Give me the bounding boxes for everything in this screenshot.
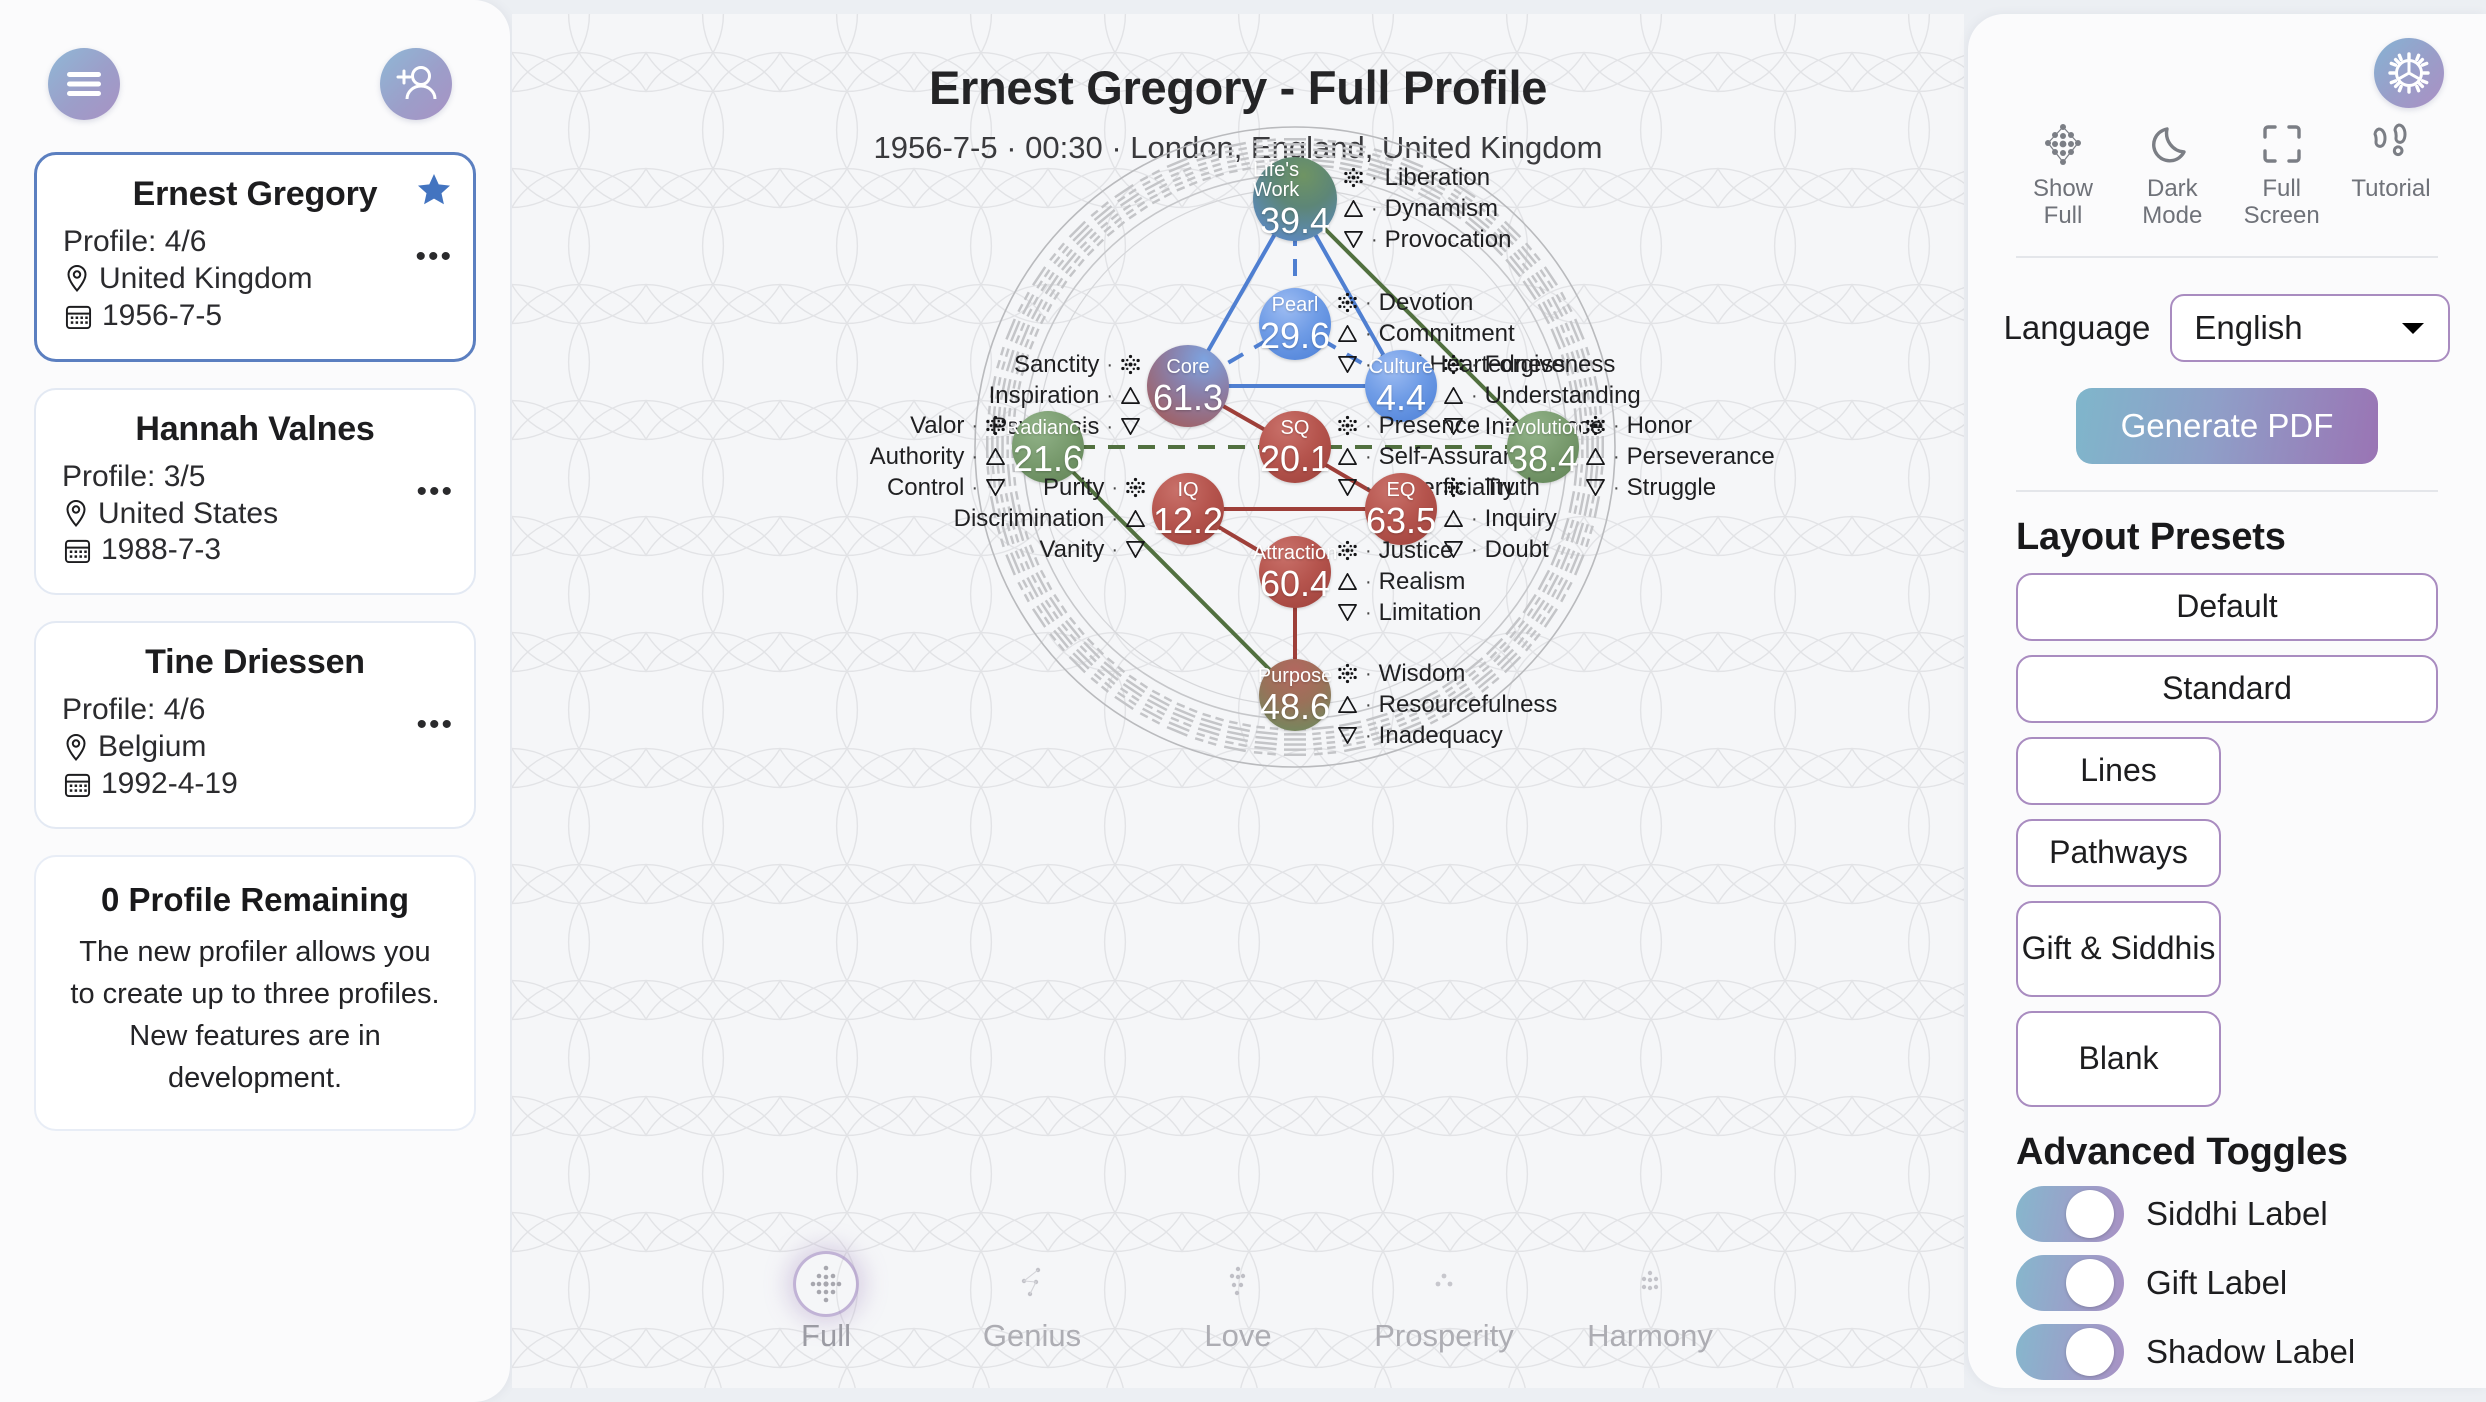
keyword: Commitment <box>1379 318 1515 349</box>
profile-card[interactable]: •••Tine DriessenProfile: 4/6Belgium1992-… <box>34 621 476 829</box>
profile-name: Hannah Valnes <box>62 410 448 449</box>
star-icon[interactable] <box>417 173 451 206</box>
dark-mode-button[interactable]: Dark Mode <box>2125 118 2219 230</box>
location-pin-icon <box>64 733 88 763</box>
gift-symbol-icon <box>1337 694 1358 715</box>
gift-symbol-icon <box>1443 385 1464 406</box>
keyword: Devotion <box>1379 287 1474 318</box>
gift-symbol-icon <box>1585 446 1606 467</box>
siddhi-symbol-icon <box>985 415 1006 436</box>
tab-label: Love <box>1204 1318 1271 1354</box>
keyword: Struggle <box>1627 472 1716 503</box>
toggle-row: Shadow Label <box>2016 1324 2486 1380</box>
node-keywords-attraction: ·Justice·Realism·Limitation <box>1337 535 1481 629</box>
card-options-button[interactable]: ••• <box>416 719 454 731</box>
profiles-remaining-body: The new profiler allows you to create up… <box>64 931 446 1099</box>
keyword: Realism <box>1379 566 1466 597</box>
siddhi-symbol-icon <box>1443 477 1464 498</box>
node-label: EQ <box>1387 480 1416 500</box>
node-label: Core <box>1166 357 1209 377</box>
calendar-icon <box>65 303 92 330</box>
chevron-down-icon <box>2400 319 2426 337</box>
node-label: SQ <box>1281 418 1310 438</box>
keyword: Inadequacy <box>1379 720 1503 751</box>
keyword: Wisdom <box>1379 658 1466 689</box>
node-label: Life's Work <box>1253 160 1337 200</box>
shadow-symbol-icon <box>1337 725 1358 746</box>
tab-icon-prosperity <box>1424 1254 1464 1314</box>
shadow-symbol-icon <box>1337 477 1358 498</box>
gift-symbol-icon <box>1337 323 1358 344</box>
expand-icon <box>2259 118 2305 170</box>
tutorial-button[interactable]: Tutorial <box>2344 118 2438 230</box>
keyword: Honor <box>1627 410 1692 441</box>
profile-location: United States <box>62 496 448 533</box>
node-value: 12.2 <box>1153 503 1223 539</box>
keyword: Truth <box>1485 472 1540 503</box>
gift-symbol-icon <box>1120 385 1141 406</box>
profile-line: Profile: 4/6 <box>62 692 448 729</box>
keyword: Purity <box>1043 472 1104 503</box>
keyword: Justice <box>1379 535 1454 566</box>
tab-label: Full <box>801 1318 851 1354</box>
toggle-label: Siddhi Label <box>2146 1195 2328 1233</box>
profile-date: 1956-7-5 <box>63 298 447 335</box>
keyword: Perseverance <box>1627 441 1775 472</box>
node-label: IQ <box>1177 480 1198 500</box>
siddhi-symbol-icon <box>1337 415 1358 436</box>
sidebar: •••Ernest GregoryProfile: 4/6United King… <box>0 0 510 1402</box>
keyword: Resourcefulness <box>1379 689 1558 720</box>
chart-node-sq[interactable]: SQ20.1 <box>1259 411 1331 483</box>
keyword: Liberation <box>1385 162 1490 193</box>
toggle-knob <box>2066 1190 2114 1238</box>
node-value: 39.4 <box>1260 203 1330 239</box>
siddhi-symbol-icon <box>1337 540 1358 561</box>
tab-full[interactable]: Full <box>723 1254 929 1354</box>
toggle-label: Gift Label <box>2146 1264 2287 1302</box>
language-select[interactable]: English <box>2170 294 2450 362</box>
chart-canvas: Ernest Gregory - Full Profile 1956-7-5 ·… <box>512 14 1964 1388</box>
shadow-symbol-icon <box>1343 229 1364 250</box>
hamburger-menu-icon[interactable] <box>48 48 120 120</box>
profile-card[interactable]: •••Hannah ValnesProfile: 3/5United State… <box>34 388 476 596</box>
keyword: Discrimination <box>954 503 1105 534</box>
profiles-remaining-title: 0 Profile Remaining <box>64 881 446 919</box>
node-value: 61.3 <box>1153 380 1223 416</box>
tab-icon-love <box>1218 1254 1258 1314</box>
layout-presets-heading: Layout Presets <box>1968 492 2486 559</box>
profile-date: 1992-4-19 <box>62 766 448 803</box>
gift-symbol-icon <box>1343 198 1364 219</box>
keyword: Inspiration <box>989 380 1100 411</box>
location-pin-icon <box>64 499 88 529</box>
keyword: Authority <box>870 441 965 472</box>
keyword: Dynamism <box>1385 193 1498 224</box>
profile-line: Profile: 4/6 <box>63 224 447 261</box>
toggle-row: Gift Label <box>2016 1255 2486 1311</box>
node-keywords-lifes-work: ·Liberation·Dynamism·Provocation <box>1343 162 1511 256</box>
node-label: Attraction <box>1253 543 1337 563</box>
show-full-label: Show Full <box>2016 176 2110 230</box>
profile-date: 1988-7-3 <box>62 532 448 569</box>
keyword: Inquiry <box>1485 503 1557 534</box>
footsteps-icon <box>2368 118 2414 170</box>
node-keywords-iq: Purity·Discrimination·Vanity· <box>954 472 1146 566</box>
chart-node-iq[interactable]: IQ12.2 <box>1152 473 1224 545</box>
toggle-switch[interactable] <box>2016 1255 2124 1311</box>
gift-symbol-icon <box>985 446 1006 467</box>
profile-name: Tine Driessen <box>62 643 448 682</box>
node-label: Pearl <box>1272 295 1319 315</box>
keyword: Presence <box>1379 410 1480 441</box>
layout-preset-list: DefaultStandardLinesPathwaysGift & Siddh… <box>1968 559 2486 1107</box>
profiles-remaining-card: 0 Profile RemainingThe new profiler allo… <box>34 855 476 1131</box>
toggle-knob <box>2066 1328 2114 1376</box>
constellation-icon <box>2039 118 2087 170</box>
keyword: Doubt <box>1485 534 1549 565</box>
siddhi-symbol-icon <box>1125 477 1146 498</box>
siddhi-symbol-icon <box>1585 415 1606 436</box>
quick-tools: Show Full Dark Mode <box>1968 108 2486 230</box>
gear-icon[interactable] <box>2374 38 2444 108</box>
node-keywords-purpose: ·Wisdom·Resourcefulness·Inadequacy <box>1337 658 1557 752</box>
tab-love[interactable]: Love <box>1135 1254 1341 1354</box>
gift-symbol-icon <box>1337 446 1358 467</box>
preset-gift-siddhis[interactable]: Gift & Siddhis <box>2016 901 2221 997</box>
advanced-toggle-list: Siddhi LabelGift LabelShadow Label <box>1968 1174 2486 1388</box>
toggle-switch[interactable] <box>2016 1186 2124 1242</box>
full-screen-label: Full Screen <box>2235 176 2329 230</box>
node-label: Culture <box>1369 357 1433 377</box>
moon-icon <box>2149 118 2195 170</box>
generate-pdf-button[interactable]: Generate PDF <box>2076 388 2378 464</box>
shadow-symbol-icon <box>1337 602 1358 623</box>
tab-label: Prosperity <box>1374 1318 1514 1354</box>
siddhi-symbol-icon <box>1337 663 1358 684</box>
dark-mode-label: Dark Mode <box>2125 176 2219 230</box>
preset-blank[interactable]: Blank <box>2016 1011 2221 1107</box>
location-pin-icon <box>65 264 89 294</box>
toggle-knob <box>2066 1259 2114 1307</box>
node-label: Radiance <box>1006 418 1091 438</box>
show-full-button[interactable]: Show Full <box>2016 118 2110 230</box>
view-tabs: FullGeniusLoveProsperityHarmony <box>512 1254 1964 1354</box>
toggle-label: Shadow Label <box>2146 1333 2355 1371</box>
siddhi-symbol-icon <box>1337 292 1358 313</box>
tab-label: Harmony <box>1587 1318 1713 1354</box>
siddhi-symbol-icon <box>1443 354 1464 375</box>
card-options-button[interactable]: ••• <box>415 251 453 263</box>
chart-edges-and-rings <box>512 14 1964 1388</box>
profile-line: Profile: 3/5 <box>62 459 448 496</box>
keyword: Valor <box>910 410 964 441</box>
shadow-symbol-icon <box>1337 354 1358 375</box>
preset-standard[interactable]: Standard <box>2016 655 2438 723</box>
node-value: 60.4 <box>1260 566 1330 602</box>
tab-prosperity[interactable]: Prosperity <box>1341 1254 1547 1354</box>
node-value: 48.6 <box>1260 689 1330 725</box>
keyword: Vanity <box>1039 534 1104 565</box>
profile-name: Ernest Gregory <box>63 175 447 214</box>
tab-genius[interactable]: Genius <box>929 1254 1135 1354</box>
profile-location: United Kingdom <box>63 261 447 298</box>
shadow-symbol-icon <box>1125 539 1146 560</box>
gift-symbol-icon <box>1125 508 1146 529</box>
profile-card[interactable]: •••Ernest GregoryProfile: 4/6United King… <box>34 152 476 362</box>
sidebar-toolbar <box>0 0 510 120</box>
tab-icon-full <box>796 1254 856 1314</box>
full-screen-button[interactable]: Full Screen <box>2235 118 2329 230</box>
chart-node-core[interactable]: Core61.3 <box>1147 345 1229 427</box>
tab-harmony[interactable]: Harmony <box>1547 1254 1753 1354</box>
language-value: English <box>2194 309 2302 347</box>
tab-icon-harmony <box>1630 1254 1670 1314</box>
calendar-icon <box>64 771 91 798</box>
keyword: Sanctity <box>1014 349 1099 380</box>
gift-symbol-icon <box>1443 508 1464 529</box>
keyword: Forgiveness <box>1485 349 1616 380</box>
shadow-symbol-icon <box>1120 416 1141 437</box>
preset-default[interactable]: Default <box>2016 573 2438 641</box>
preset-lines[interactable]: Lines <box>2016 737 2221 805</box>
profile-card-list: •••Ernest GregoryProfile: 4/6United King… <box>0 120 510 1131</box>
node-label: Evolution <box>1502 418 1584 438</box>
card-options-button[interactable]: ••• <box>416 486 454 498</box>
keyword: Provocation <box>1385 224 1512 255</box>
chart-node-lifes-work[interactable]: Life's Work39.4 <box>1253 157 1337 241</box>
chart-node-pearl[interactable]: Pearl29.6 <box>1259 288 1331 360</box>
node-label: Purpose <box>1258 666 1333 686</box>
calendar-icon <box>64 537 91 564</box>
tab-icon-genius <box>1012 1254 1052 1314</box>
node-keywords-evolution: ·Honor·Perseverance·Struggle <box>1585 410 1775 504</box>
gift-symbol-icon <box>1337 571 1358 592</box>
shadow-symbol-icon <box>1585 477 1606 498</box>
siddhi-symbol-icon <box>1343 167 1364 188</box>
node-value: 20.1 <box>1260 441 1330 477</box>
tab-label: Genius <box>983 1318 1081 1354</box>
preset-pathways[interactable]: Pathways <box>2016 819 2221 887</box>
siddhi-symbol-icon <box>1120 354 1141 375</box>
keyword: Understanding <box>1485 380 1641 411</box>
add-person-icon[interactable] <box>380 48 452 120</box>
node-value: 63.5 <box>1366 503 1436 539</box>
language-label: Language <box>2004 309 2151 347</box>
toggle-row: Siddhi Label <box>2016 1186 2486 1242</box>
chart-node-attraction[interactable]: Attraction60.4 <box>1259 536 1331 608</box>
keyword: Limitation <box>1379 597 1482 628</box>
profile-location: Belgium <box>62 729 448 766</box>
toggle-switch[interactable] <box>2016 1324 2124 1380</box>
advanced-toggles-heading: Advanced Toggles <box>1968 1107 2486 1174</box>
chart-node-purpose[interactable]: Purpose48.6 <box>1259 659 1331 731</box>
tutorial-label: Tutorial <box>2351 176 2430 203</box>
settings-panel: Show Full Dark Mode <box>1968 14 2486 1388</box>
node-value: 29.6 <box>1260 318 1330 354</box>
